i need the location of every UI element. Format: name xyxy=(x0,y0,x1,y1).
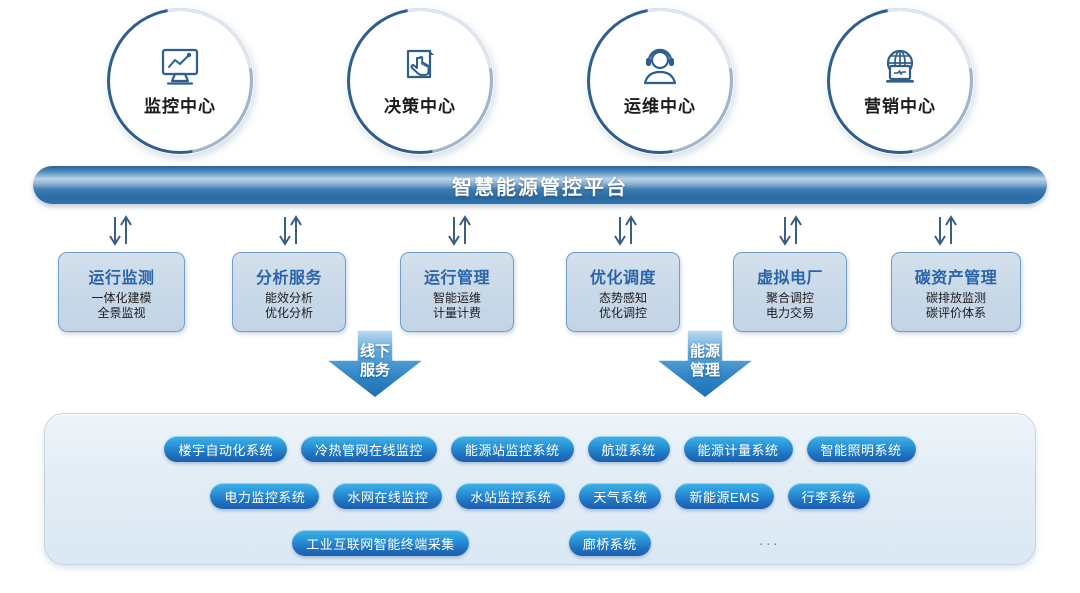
capability-subline-1: 态势感知 xyxy=(599,291,647,306)
flow-arrow-offline-service: 线下 服务 xyxy=(320,330,430,400)
capability-box-operation-management[interactable]: 运行管理 智能运维 计量计费 xyxy=(400,252,514,332)
hand-tap-document-icon xyxy=(397,46,443,88)
capability-subline-2: 电力交易 xyxy=(766,306,814,321)
capability-title: 虚拟电厂 xyxy=(757,264,823,288)
capability-title: 运行管理 xyxy=(424,264,490,288)
capability-box-optimal-dispatch[interactable]: 优化调度 态势感知 优化调控 xyxy=(566,252,680,332)
systems-row-1: 楼宇自动化系统 冷热管网在线监控 能源站监控系统 航班系统 能源计量系统 智能照… xyxy=(45,432,1035,466)
platform-title: 智慧能源管控平台 xyxy=(452,171,628,200)
system-pill[interactable]: 工业互联网智能终端采集 xyxy=(292,530,469,556)
center-circle-label: 决策中心 xyxy=(384,92,456,117)
center-circle-label: 监控中心 xyxy=(144,92,216,117)
system-pill[interactable]: 楼宇自动化系统 xyxy=(164,436,287,462)
capability-subline-2: 优化分析 xyxy=(265,306,313,321)
bidirectional-connector-4 xyxy=(609,214,643,248)
capability-subline-1: 一体化建模 xyxy=(91,291,151,306)
source-systems-panel: 楼宇自动化系统 冷热管网在线监控 能源站监控系统 航班系统 能源计量系统 智能照… xyxy=(44,413,1036,565)
capability-box-carbon-asset-management[interactable]: 碳资产管理 碳排放监测 碳评价体系 xyxy=(891,252,1021,332)
capability-subline-2: 全景监视 xyxy=(97,306,145,321)
capability-subline-1: 聚合调控 xyxy=(766,291,814,306)
headset-agent-icon xyxy=(637,46,683,88)
bidirectional-connector-1 xyxy=(104,214,138,248)
capability-subline-1: 能效分析 xyxy=(265,291,313,306)
capability-subline-1: 智能运维 xyxy=(433,291,481,306)
system-pill[interactable]: 电力监控系统 xyxy=(210,483,319,509)
center-circle-operations[interactable]: 运维中心 xyxy=(587,8,733,154)
system-pill[interactable]: 航班系统 xyxy=(588,436,670,462)
capability-title: 运行监测 xyxy=(88,264,154,288)
system-pill[interactable]: 冷热管网在线监控 xyxy=(301,436,437,462)
bidirectional-connector-3 xyxy=(443,214,477,248)
system-pill[interactable]: 新能源EMS xyxy=(675,483,773,509)
system-pill[interactable]: 智能照明系统 xyxy=(807,436,916,462)
globe-laptop-icon xyxy=(877,46,923,88)
center-circle-label: 运维中心 xyxy=(624,92,696,117)
systems-row-2: 电力监控系统 水网在线监控 水站监控系统 天气系统 新能源EMS 行李系统 xyxy=(45,479,1035,513)
capability-title: 优化调度 xyxy=(590,264,656,288)
flow-arrow-energy-management: 能源 管理 xyxy=(650,330,760,400)
capability-title: 分析服务 xyxy=(256,264,322,288)
bidirectional-connector-2 xyxy=(274,214,308,248)
capability-box-operation-monitoring[interactable]: 运行监测 一体化建模 全景监视 xyxy=(58,252,185,332)
bidirectional-connector-6 xyxy=(929,214,963,248)
capability-subline-2: 优化调控 xyxy=(599,306,647,321)
monitor-chart-icon xyxy=(157,46,203,88)
capability-subline-2: 计量计费 xyxy=(433,306,481,321)
center-circle-row: 监控中心 决策中心 运维中心 xyxy=(0,8,1080,156)
system-pill[interactable]: 能源计量系统 xyxy=(684,436,793,462)
system-pill[interactable]: 天气系统 xyxy=(579,483,661,509)
system-pill[interactable]: 能源站监控系统 xyxy=(451,436,574,462)
systems-row-3: 工业互联网智能终端采集 廊桥系统 ··· xyxy=(45,526,1035,560)
center-circle-decision[interactable]: 决策中心 xyxy=(347,8,493,154)
capability-subline-1: 碳排放监测 xyxy=(926,291,986,306)
bidirectional-connector-5 xyxy=(774,214,808,248)
center-circle-label: 营销中心 xyxy=(864,92,936,117)
system-pill[interactable]: 水网在线监控 xyxy=(333,483,442,509)
system-pill[interactable]: 廊桥系统 xyxy=(569,530,651,556)
system-pill[interactable]: 行李系统 xyxy=(788,483,870,509)
center-circle-monitor[interactable]: 监控中心 xyxy=(107,8,253,154)
center-circle-marketing[interactable]: 营销中心 xyxy=(827,8,973,154)
capability-box-virtual-power-plant[interactable]: 虚拟电厂 聚合调控 电力交易 xyxy=(733,252,847,332)
more-systems-ellipsis: ··· xyxy=(751,535,788,552)
capability-subline-2: 碳评价体系 xyxy=(926,306,986,321)
platform-banner: 智慧能源管控平台 xyxy=(33,166,1047,204)
system-pill[interactable]: 水站监控系统 xyxy=(456,483,565,509)
capability-title: 碳资产管理 xyxy=(915,264,998,288)
capability-box-analysis-service[interactable]: 分析服务 能效分析 优化分析 xyxy=(232,252,346,332)
